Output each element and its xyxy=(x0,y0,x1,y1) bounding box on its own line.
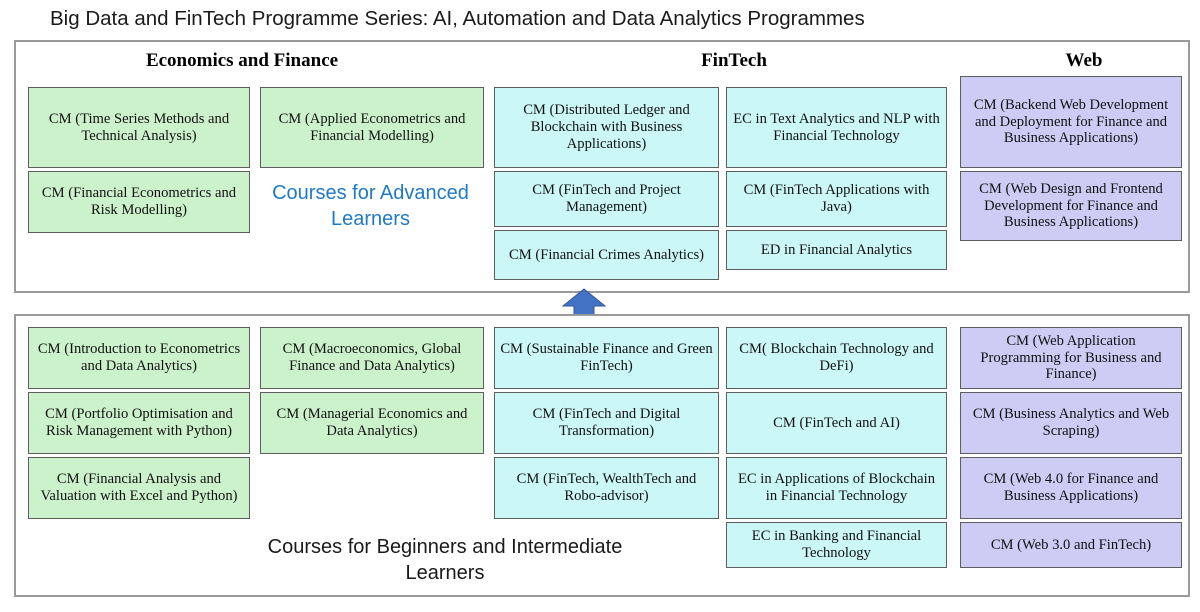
course-card[interactable]: CM (Managerial Economics and Data Analyt… xyxy=(260,392,484,454)
course-card[interactable]: CM (Time Series Methods and Technical An… xyxy=(28,87,250,168)
course-card-label: CM (Financial Econometrics and Risk Mode… xyxy=(33,185,245,219)
column-header-economics-and-finance: Economics and Finance xyxy=(32,50,452,72)
course-card-label: CM (Financial Analysis and Valuation wit… xyxy=(33,471,245,505)
course-card-label: ED in Financial Analytics xyxy=(731,242,942,259)
course-card-label: CM (FinTech Applications with Java) xyxy=(731,182,942,216)
course-card-label: CM (FinTech and Digital Transformation) xyxy=(499,406,714,440)
course-card-label: CM (Sustainable Finance and Green FinTec… xyxy=(499,341,714,375)
course-card-label: CM (Time Series Methods and Technical An… xyxy=(33,111,245,145)
course-card[interactable]: CM( Blockchain Technology and DeFi) xyxy=(726,327,947,389)
course-card[interactable]: EC in Banking and Financial Technology xyxy=(726,522,947,568)
beginner-learners-note: Courses for Beginners and Intermediate L… xyxy=(235,534,655,587)
course-card[interactable]: CM (Financial Analysis and Valuation wit… xyxy=(28,457,250,519)
course-card[interactable]: CM (Applied Econometrics and Financial M… xyxy=(260,87,484,168)
advanced-learners-note: Courses for Advanced Learners xyxy=(258,180,483,233)
course-card-label: CM (FinTech and AI) xyxy=(731,415,942,432)
course-card-label: CM (Financial Crimes Analytics) xyxy=(499,247,714,264)
course-card-label: CM (Web Application Programming for Busi… xyxy=(965,333,1177,384)
course-card[interactable]: CM (Web Design and Frontend Development … xyxy=(960,171,1182,241)
course-card-label: EC in Text Analytics and NLP with Financ… xyxy=(731,111,942,145)
course-card[interactable]: CM (FinTech and Digital Transformation) xyxy=(494,392,719,454)
course-card-label: CM (Backend Web Development and Deployme… xyxy=(965,97,1177,148)
course-card-label: CM (Business Analytics and Web Scraping) xyxy=(965,406,1177,440)
course-card[interactable]: CM (Backend Web Development and Deployme… xyxy=(960,76,1182,168)
course-card[interactable]: CM (FinTech and Project Management) xyxy=(494,171,719,227)
column-header-fintech: FinTech xyxy=(494,50,974,72)
course-card[interactable]: CM (Distributed Ledger and Blockchain wi… xyxy=(494,87,719,168)
column-header-web: Web xyxy=(976,50,1192,72)
course-card[interactable]: CM (Portfolio Optimisation and Risk Mana… xyxy=(28,392,250,454)
course-card[interactable]: EC in Text Analytics and NLP with Financ… xyxy=(726,87,947,168)
course-card[interactable]: CM (Web 4.0 for Finance and Business App… xyxy=(960,457,1182,519)
page-title: Big Data and FinTech Programme Series: A… xyxy=(50,4,1150,34)
course-card[interactable]: ED in Financial Analytics xyxy=(726,230,947,270)
course-card-label: CM (Portfolio Optimisation and Risk Mana… xyxy=(33,406,245,440)
course-card[interactable]: CM (FinTech and AI) xyxy=(726,392,947,454)
course-card[interactable]: CM (Web Application Programming for Busi… xyxy=(960,327,1182,389)
course-card[interactable]: CM (Business Analytics and Web Scraping) xyxy=(960,392,1182,454)
course-card-label: CM (Applied Econometrics and Financial M… xyxy=(265,111,479,145)
course-card[interactable]: CM (Macroeconomics, Global Finance and D… xyxy=(260,327,484,389)
course-card-label: EC in Banking and Financial Technology xyxy=(731,528,942,562)
course-card-label: CM (Introduction to Econometrics and Dat… xyxy=(33,341,245,375)
course-card-label: EC in Applications of Blockchain in Fina… xyxy=(731,471,942,505)
course-card-label: CM( Blockchain Technology and DeFi) xyxy=(731,341,942,375)
course-card[interactable]: EC in Applications of Blockchain in Fina… xyxy=(726,457,947,519)
course-card[interactable]: CM (FinTech, WealthTech and Robo-advisor… xyxy=(494,457,719,519)
course-card-label: CM (Managerial Economics and Data Analyt… xyxy=(265,406,479,440)
course-card-label: CM (FinTech, WealthTech and Robo-advisor… xyxy=(499,471,714,505)
course-card-label: CM (Macroeconomics, Global Finance and D… xyxy=(265,341,479,375)
course-card[interactable]: CM (Web 3.0 and FinTech) xyxy=(960,522,1182,568)
course-card[interactable]: CM (Financial Econometrics and Risk Mode… xyxy=(28,171,250,233)
course-card-label: CM (Web 3.0 and FinTech) xyxy=(965,537,1177,554)
course-card-label: CM (Distributed Ledger and Blockchain wi… xyxy=(499,102,714,153)
course-card-label: CM (Web Design and Frontend Development … xyxy=(965,181,1177,232)
course-card[interactable]: CM (FinTech Applications with Java) xyxy=(726,171,947,227)
course-card-label: CM (FinTech and Project Management) xyxy=(499,182,714,216)
course-card[interactable]: CM (Introduction to Econometrics and Dat… xyxy=(28,327,250,389)
course-card[interactable]: CM (Sustainable Finance and Green FinTec… xyxy=(494,327,719,389)
course-card-label: CM (Web 4.0 for Finance and Business App… xyxy=(965,471,1177,505)
course-card[interactable]: CM (Financial Crimes Analytics) xyxy=(494,230,719,280)
advanced-courses-panel: Economics and Finance FinTech Web CM (Ti… xyxy=(14,40,1190,293)
